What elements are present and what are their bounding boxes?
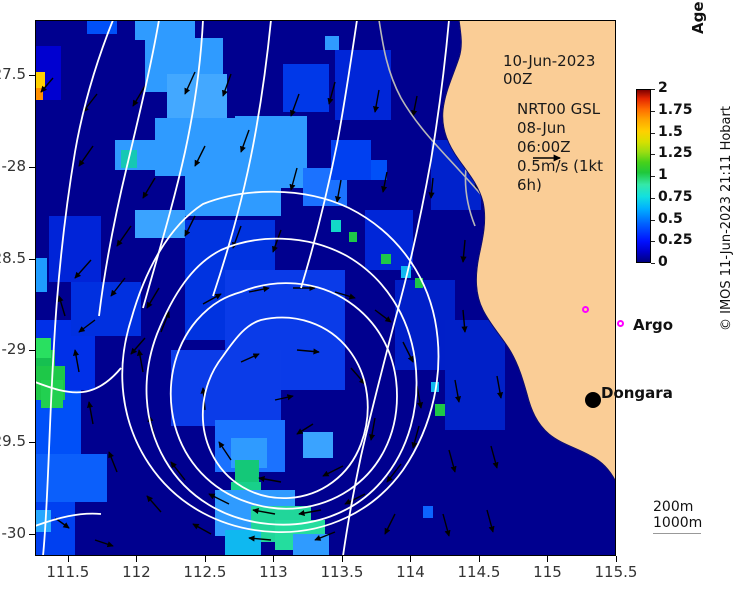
colorbar-tick-label: 1.5 xyxy=(658,124,683,140)
dongara-label: Dongara xyxy=(601,384,673,402)
y-tick-label: -28 xyxy=(0,157,26,175)
scalebar-rule xyxy=(653,533,701,534)
colorbar-tick-label: 0 xyxy=(658,254,668,270)
x-tick xyxy=(68,556,69,562)
colorbar-tick-label: 1.25 xyxy=(658,145,693,161)
y-tick xyxy=(29,259,35,260)
model-name-label: NRT00 GSL xyxy=(517,100,616,119)
y-tick xyxy=(29,167,35,168)
colorbar[interactable]: 21.751.51.2510.750.50.250 xyxy=(636,89,651,263)
x-tick-label: 113 xyxy=(238,563,308,581)
x-tick xyxy=(342,556,343,562)
argo-float-marker[interactable] xyxy=(582,306,589,313)
map-plot-area[interactable]: 10-Jun-2023 00Z NRT00 GSL 08-Jun 06:00Z … xyxy=(35,20,616,556)
argo-label: Argo xyxy=(633,316,673,334)
x-tick-label: 113.5 xyxy=(307,563,377,581)
y-tick-label: -29.5 xyxy=(0,432,26,450)
x-tick xyxy=(616,556,617,562)
x-tick-label: 111.5 xyxy=(33,563,103,581)
argo-marker-icon xyxy=(617,320,624,327)
y-tick xyxy=(29,75,35,76)
map-figure: 10-Jun-2023 00Z NRT00 GSL 08-Jun 06:00Z … xyxy=(0,0,740,592)
credit-label: © IMOS 11-Jun-2023 21:11 Hobart xyxy=(719,106,734,331)
colorbar-tick xyxy=(651,263,655,264)
y-tick-label: -30 xyxy=(0,524,26,542)
colorbar-title: Age (days) of filled SST (wrt latest) xyxy=(689,0,707,34)
colorbar-tick-label: 0.5 xyxy=(658,211,683,227)
y-tick-label: -27.5 xyxy=(0,65,26,83)
x-tick xyxy=(479,556,480,562)
colorbar-tick xyxy=(651,176,655,177)
dongara-marker xyxy=(585,392,601,408)
colorbar-tick xyxy=(651,198,655,199)
colorbar-tick-label: 0.25 xyxy=(658,232,693,248)
colorbar-gradient xyxy=(636,89,651,263)
y-tick-label: -28.5 xyxy=(0,249,26,267)
arrow-right-icon xyxy=(532,152,566,164)
x-tick-label: 115 xyxy=(512,563,582,581)
x-tick-label: 112.5 xyxy=(170,563,240,581)
depth-1000m-label: 1000m xyxy=(653,515,702,531)
colorbar-tick-label: 2 xyxy=(658,80,668,96)
x-tick-label: 115.5 xyxy=(581,563,651,581)
forecast-datetime-label: 10-Jun-2023 00Z xyxy=(503,52,616,88)
y-tick xyxy=(29,534,35,535)
x-tick xyxy=(547,556,548,562)
x-tick xyxy=(273,556,274,562)
colorbar-tick-label: 1.75 xyxy=(658,102,693,118)
colorbar-tick xyxy=(651,154,655,155)
x-tick-label: 112 xyxy=(101,563,171,581)
y-tick xyxy=(29,442,35,443)
x-tick xyxy=(205,556,206,562)
colorbar-tick xyxy=(651,111,655,112)
colorbar-tick-label: 1 xyxy=(658,167,668,183)
x-tick-label: 114.5 xyxy=(444,563,514,581)
colorbar-tick xyxy=(651,220,655,221)
colorbar-tick-label: 0.75 xyxy=(658,189,693,205)
colorbar-tick xyxy=(651,241,655,242)
x-tick xyxy=(136,556,137,562)
colorbar-tick xyxy=(651,133,655,134)
depth-200m-label: 200m xyxy=(653,499,702,515)
x-tick-label: 114 xyxy=(375,563,445,581)
model-annotation: NRT00 GSL 08-Jun 06:00Z 0.5m/s (1kt 6h) xyxy=(517,100,616,195)
y-tick-label: -29 xyxy=(0,340,26,358)
colorbar-tick xyxy=(651,89,655,90)
y-tick xyxy=(29,350,35,351)
depth-contour-legend: 200m 1000m xyxy=(653,499,702,534)
x-tick xyxy=(410,556,411,562)
